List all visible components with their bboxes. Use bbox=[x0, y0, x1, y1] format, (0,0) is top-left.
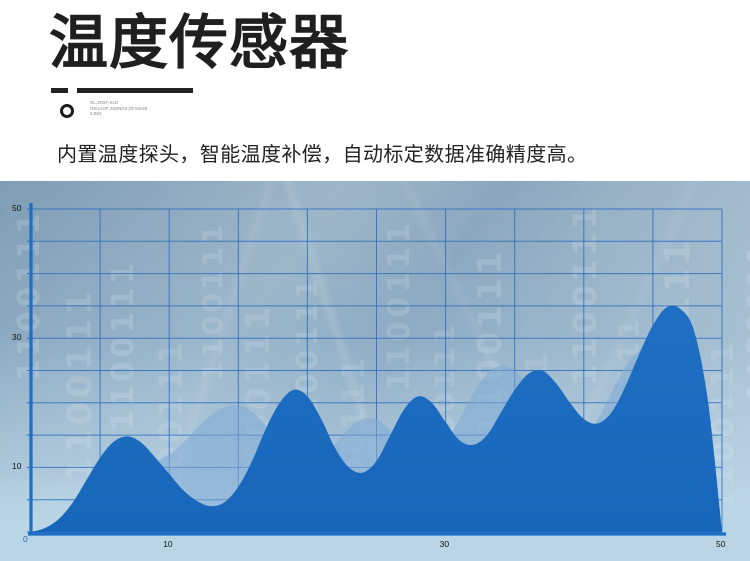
y-tick-label: 30 bbox=[12, 332, 21, 342]
page-subtitle: 内置温度探头，智能温度补偿，自动标定数据准确精度高。 bbox=[57, 140, 587, 168]
y-tick-label: 10 bbox=[12, 461, 21, 471]
header-section: 温度传感器 OL;JKDF;KLD OSUAOF;JSDNGK;DFSGHB K… bbox=[0, 0, 750, 181]
y-tick-label: 50 bbox=[12, 203, 21, 213]
y-tick-label: 0 bbox=[23, 534, 28, 544]
divider-dash-long bbox=[77, 88, 193, 93]
chart-panel: 1100111110011111001111100111110011111001… bbox=[0, 181, 750, 561]
product-detail-page: 温度传感器 OL;JKDF;KLD OSUAOF;JSDNGK;DFSGHB K… bbox=[0, 0, 750, 561]
x-tick-label: 30 bbox=[440, 539, 449, 549]
badge-caption-line-3: KJND bbox=[90, 111, 147, 117]
badge-caption: OL;JKDF;KLD OSUAOF;JSDNGK;DFSGHB KJND bbox=[90, 100, 147, 117]
x-tick-label: 10 bbox=[163, 539, 172, 549]
divider-dash-short bbox=[51, 88, 68, 93]
circle-icon bbox=[60, 104, 74, 118]
x-tick-label: 50 bbox=[716, 539, 725, 549]
page-title: 温度传感器 bbox=[49, 8, 349, 78]
area-chart bbox=[0, 181, 750, 561]
